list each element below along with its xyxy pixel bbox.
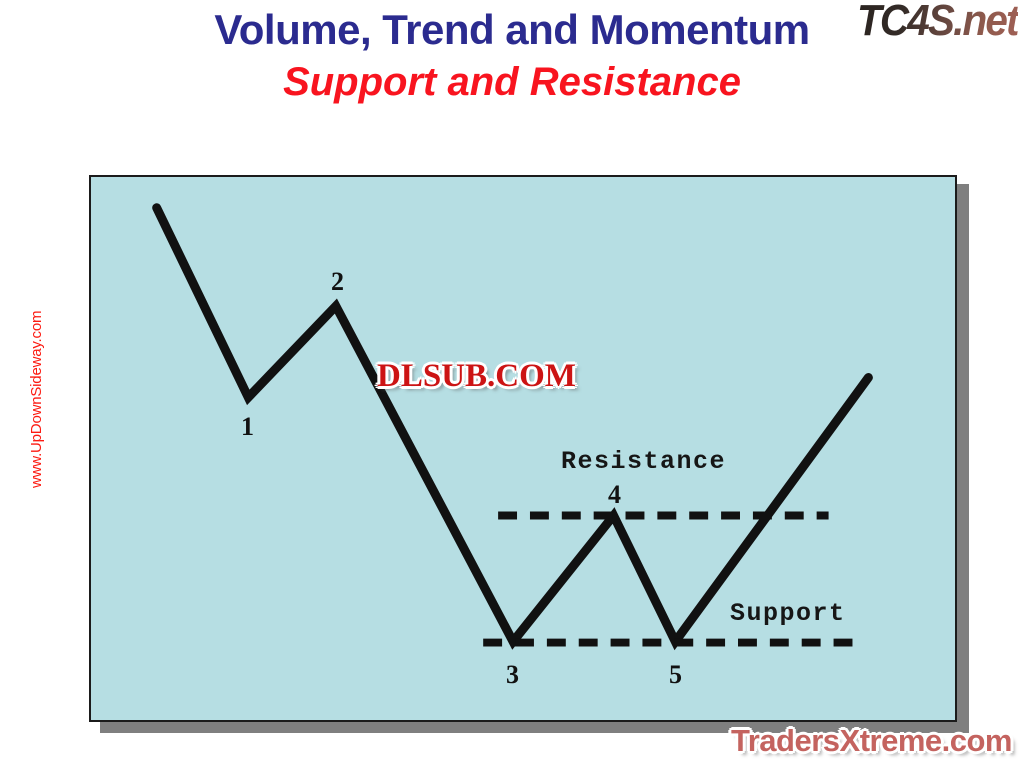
updownsideway-watermark: www.UpDownSideway.com	[28, 258, 45, 488]
pivot-label-3: 3	[506, 662, 519, 688]
support-label: Support	[730, 601, 846, 626]
page-subtitle: Support and Resistance	[0, 60, 1024, 104]
tradersxtreme-watermark: TradersXtreme.com	[731, 723, 1012, 759]
pivot-label-5: 5	[669, 662, 682, 688]
price-chart: 1 2 3 4 5 Resistance Support	[89, 175, 957, 722]
pivot-label-1: 1	[241, 414, 254, 440]
pivot-label-2: 2	[331, 269, 344, 295]
tc4s-watermark: TC4S.net	[857, 0, 1018, 46]
pivot-label-4: 4	[608, 482, 621, 508]
resistance-label: Resistance	[561, 449, 726, 474]
chart-canvas	[91, 177, 955, 720]
dlsub-watermark: DLSUB.COM	[377, 358, 576, 395]
price-line	[157, 208, 869, 642]
